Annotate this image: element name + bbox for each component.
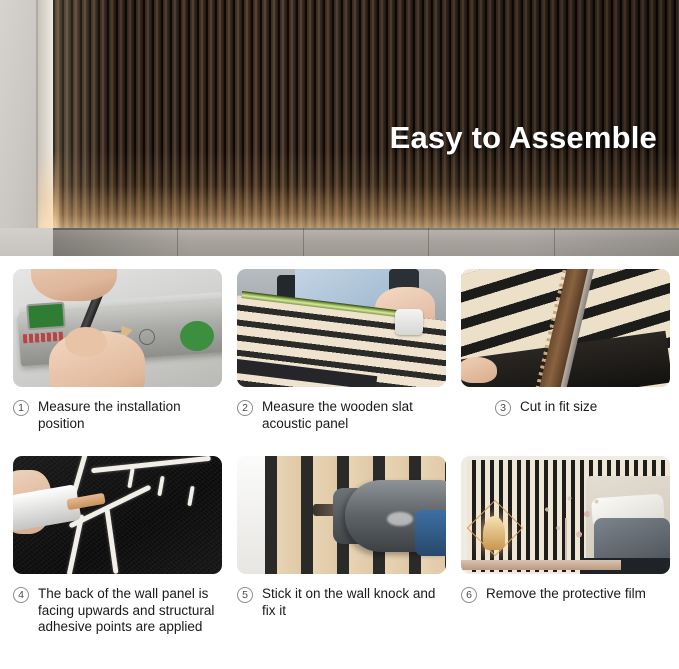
- steps-row-2: 4 The back of the wall panel is facing u…: [0, 452, 679, 652]
- hero-banner: Easy to Assemble: [0, 0, 679, 256]
- step-photo-4: [13, 456, 222, 574]
- steps-grid: 1 Measure the installation position 2 Me…: [0, 256, 679, 669]
- step-card-2: 2 Measure the wooden slat acoustic panel: [237, 269, 446, 452]
- hand-upper: [31, 269, 117, 301]
- table-lamp: [483, 516, 505, 550]
- level-vial-icon: [26, 302, 66, 331]
- steps-row-1: 1 Measure the installation position 2 Me…: [0, 256, 679, 452]
- step-photo-2: [237, 269, 446, 387]
- step-caption-2: 2 Measure the wooden slat acoustic panel: [237, 399, 446, 432]
- step-caption-5: 5 Stick it on the wall knock and fix it: [237, 586, 446, 619]
- step-text-2: Measure the wooden slat acoustic panel: [262, 399, 446, 432]
- thumb: [65, 327, 107, 357]
- tape-measure-case: [395, 309, 423, 335]
- hero-cabinet-shadow: [53, 228, 679, 256]
- step-number-6: 6: [461, 587, 477, 603]
- step-card-6: 6 Remove the protective film: [461, 456, 670, 652]
- decorative-branches: [531, 486, 611, 564]
- step-photo-1: [13, 269, 222, 387]
- step-text-4: The back of the wall panel is facing upw…: [38, 586, 222, 636]
- drill-grip: [415, 510, 446, 556]
- bare-wall-edge: [237, 456, 265, 574]
- hero-floor-strip: [0, 228, 53, 256]
- step-text-1: Measure the installation position: [38, 399, 222, 432]
- step-card-3: 3 Cut in fit size: [461, 269, 670, 452]
- hero-cove-light-glow: [53, 150, 679, 228]
- step-caption-4: 4 The back of the wall panel is facing u…: [13, 586, 222, 636]
- step-number-3: 3: [495, 400, 511, 416]
- console-table: [461, 560, 621, 570]
- step-card-5: 5 Stick it on the wall knock and fix it: [237, 456, 446, 652]
- step-number-4: 4: [13, 587, 29, 603]
- step-caption-1: 1 Measure the installation position: [13, 399, 222, 432]
- step-card-1: 1 Measure the installation position: [13, 269, 222, 452]
- finger: [461, 357, 497, 383]
- step-number-1: 1: [13, 400, 29, 416]
- step-card-4: 4 The back of the wall panel is facing u…: [13, 456, 222, 652]
- hero-left-wall: [0, 0, 38, 256]
- step-caption-6: 6 Remove the protective film: [461, 586, 670, 603]
- step-photo-5: [237, 456, 446, 574]
- drill-highlight: [387, 512, 413, 526]
- step-text-6: Remove the protective film: [486, 586, 670, 603]
- step-photo-6: [461, 456, 670, 574]
- step-number-5: 5: [237, 587, 253, 603]
- hero-title: Easy to Assemble: [390, 120, 657, 156]
- step-text-3: Cut in fit size: [520, 399, 670, 416]
- step-photo-3: [461, 269, 670, 387]
- step-number-2: 2: [237, 400, 253, 416]
- step-caption-3: 3 Cut in fit size: [461, 399, 670, 416]
- step-text-5: Stick it on the wall knock and fix it: [262, 586, 446, 619]
- hero-cove-light-edge: [38, 150, 58, 234]
